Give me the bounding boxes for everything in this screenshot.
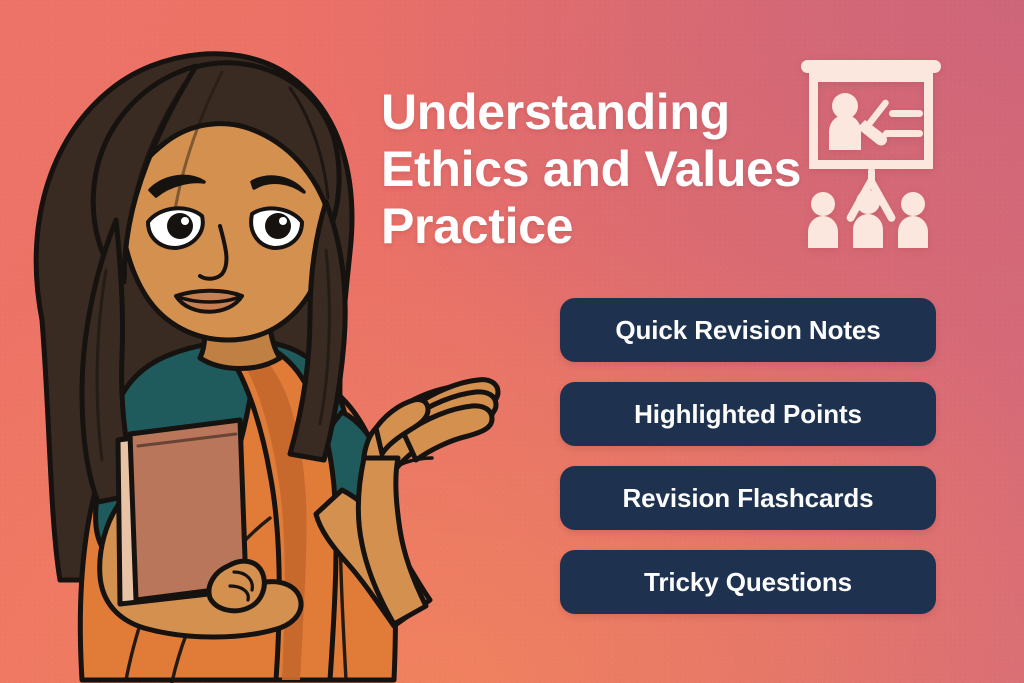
highlighted-points-button[interactable]: Highlighted Points xyxy=(560,382,936,446)
tricky-questions-button[interactable]: Tricky Questions xyxy=(560,550,936,614)
quick-revision-notes-button[interactable]: Quick Revision Notes xyxy=(560,298,936,362)
revision-flashcards-button[interactable]: Revision Flashcards xyxy=(560,466,936,530)
poster-canvas: Understanding Ethics and Values Practice xyxy=(0,0,1024,683)
action-button-list: Quick Revision Notes Highlighted Points … xyxy=(560,298,936,614)
woman-teacher-illustration xyxy=(0,20,550,683)
audience-figures xyxy=(808,190,928,248)
training-presentation-icon xyxy=(795,58,947,248)
